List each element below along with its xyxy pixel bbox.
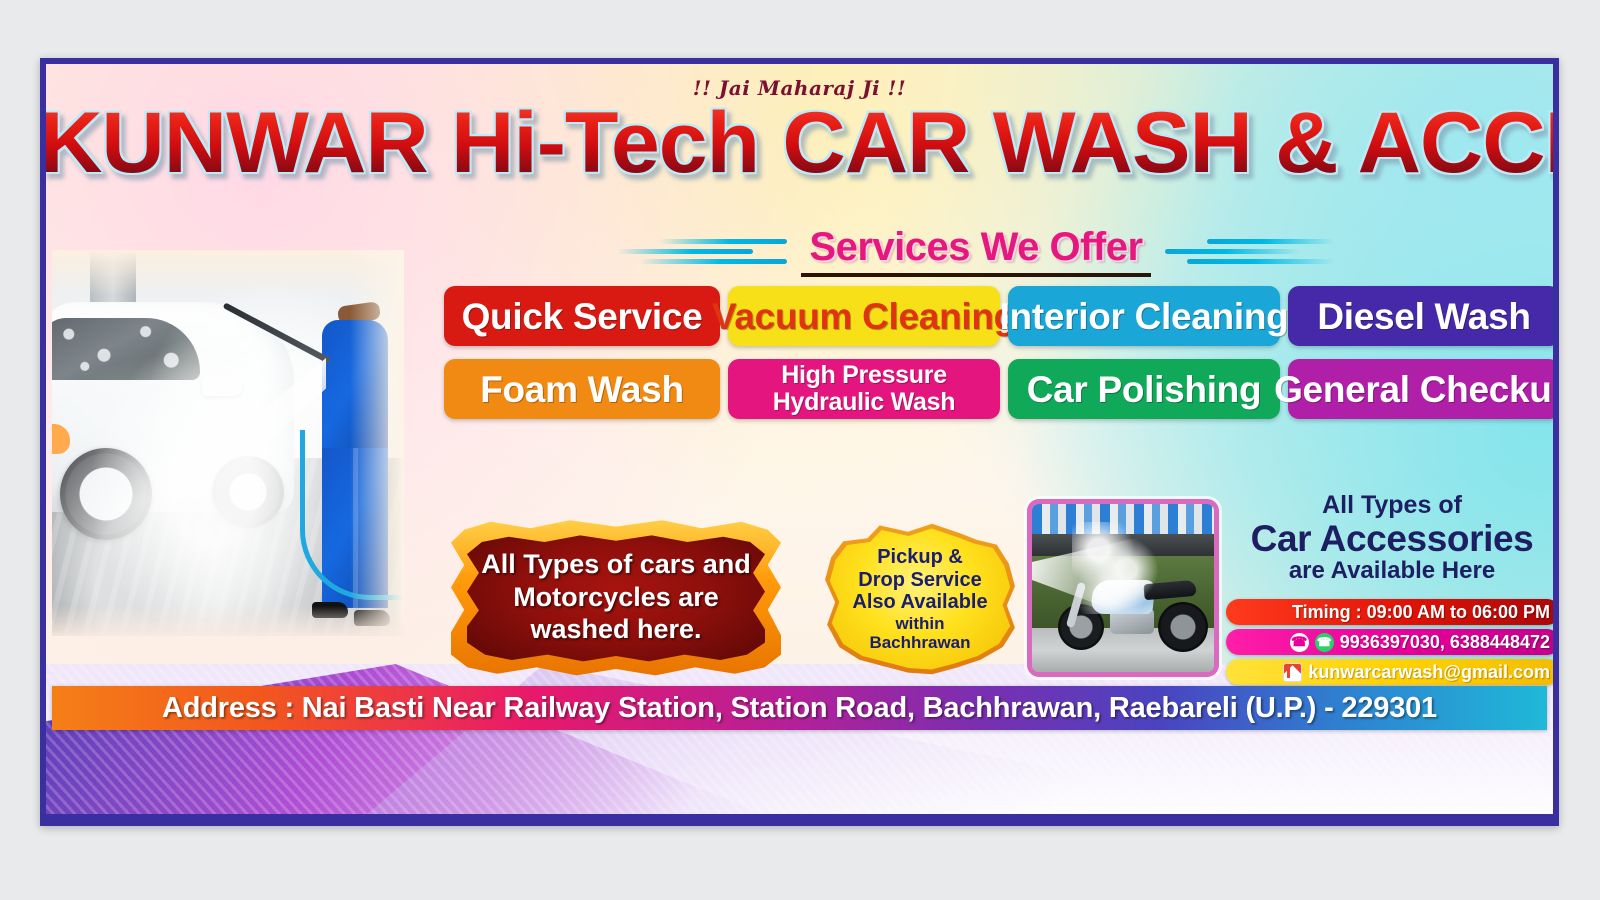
pickup-line-4: within [852, 614, 987, 633]
bike-rear-wheel [1158, 602, 1208, 652]
phone-bar[interactable]: 9936397030, 6388448472 [1226, 629, 1553, 655]
timing-bar: Timing : 09:00 AM to 06:00 PM [1226, 599, 1553, 625]
motorcycle-wash-photo [1027, 499, 1219, 677]
services-heading-row: Services We Offer [406, 226, 1546, 276]
address-text: Address : Nai Basti Near Railway Station… [162, 692, 1437, 725]
whatsapp-icon [1315, 633, 1334, 652]
washed-here-plaque: All Types of cars and Motorcycles are wa… [451, 517, 781, 677]
pickup-line-5: Bachhrawan [852, 633, 987, 652]
phone-numbers: 9936397030, 6388448472 [1340, 632, 1550, 653]
service-pill-high-pressure-hydraulic-wash[interactable]: High Pressure Hydraulic Wash [728, 359, 1000, 419]
pickup-line-1: Pickup & [852, 546, 987, 568]
plaque-line-2: Motorcycles are [481, 581, 751, 613]
plaque-line-3: washed here. [481, 613, 751, 645]
services-heading: Services We Offer [801, 225, 1150, 277]
email-bar[interactable]: kunwarcarwash@gmail.com [1226, 659, 1553, 685]
bottom-edge-rule [46, 814, 1553, 820]
service-pill-foam-wash[interactable]: Foam Wash [444, 359, 720, 419]
speed-lines-left-icon [617, 234, 787, 268]
gmail-icon [1283, 663, 1302, 682]
accessories-line-1: All Types of [1224, 492, 1553, 519]
plaque-line-1: All Types of cars and [481, 548, 751, 580]
service-pill-car-polishing[interactable]: Car Polishing [1008, 359, 1280, 419]
pickup-line-3: Also Available [852, 591, 987, 613]
photo-fade-right [350, 250, 404, 636]
car-wash-photo [52, 250, 404, 636]
service-pill-general-checkup[interactable]: General Checkup [1288, 359, 1553, 419]
banner: !! Jai Maharaj Ji !! KUNWAR Hi-Tech CAR … [40, 58, 1559, 826]
plaque-text: All Types of cars and Motorcycles are wa… [469, 548, 763, 645]
accessories-line-2: Car Accessories [1224, 519, 1553, 558]
banner-canvas: !! Jai Maharaj Ji !! KUNWAR Hi-Tech CAR … [46, 64, 1553, 820]
plaque-face: All Types of cars and Motorcycles are wa… [467, 530, 765, 664]
page-title: KUNWAR Hi-Tech CAR WASH & ACCESSORIES CE… [46, 100, 1553, 188]
accessories-block: All Types of Car Accessories are Availab… [1224, 492, 1553, 583]
phone-icon [1290, 633, 1309, 652]
address-bar: Address : Nai Basti Near Railway Station… [52, 686, 1547, 730]
service-pill-vacuum-cleaning[interactable]: Vacuum Cleaning [728, 286, 1000, 346]
accessories-line-3: are Available Here [1224, 558, 1553, 583]
service-pill-interior-cleaning[interactable]: Interior Cleaning [1008, 286, 1280, 346]
service-pill-diesel-wash[interactable]: Diesel Wash [1288, 286, 1553, 346]
speed-lines-right-icon [1165, 234, 1335, 268]
pickup-drop-badge: Pickup & Drop Service Also Available wit… [819, 519, 1021, 679]
pickup-badge-text: Pickup & Drop Service Also Available wit… [852, 546, 987, 651]
services-grid: Quick Service Vacuum Cleaning Interior C… [444, 286, 1553, 419]
email-address: kunwarcarwash@gmail.com [1308, 662, 1550, 683]
timing-text: Timing : 09:00 AM to 06:00 PM [1292, 602, 1550, 623]
contact-bars: Timing : 09:00 AM to 06:00 PM 9936397030… [1226, 599, 1553, 685]
service-pill-quick-service[interactable]: Quick Service [444, 286, 720, 346]
photo-fade-bottom [52, 606, 404, 636]
pickup-line-2: Drop Service [852, 569, 987, 591]
